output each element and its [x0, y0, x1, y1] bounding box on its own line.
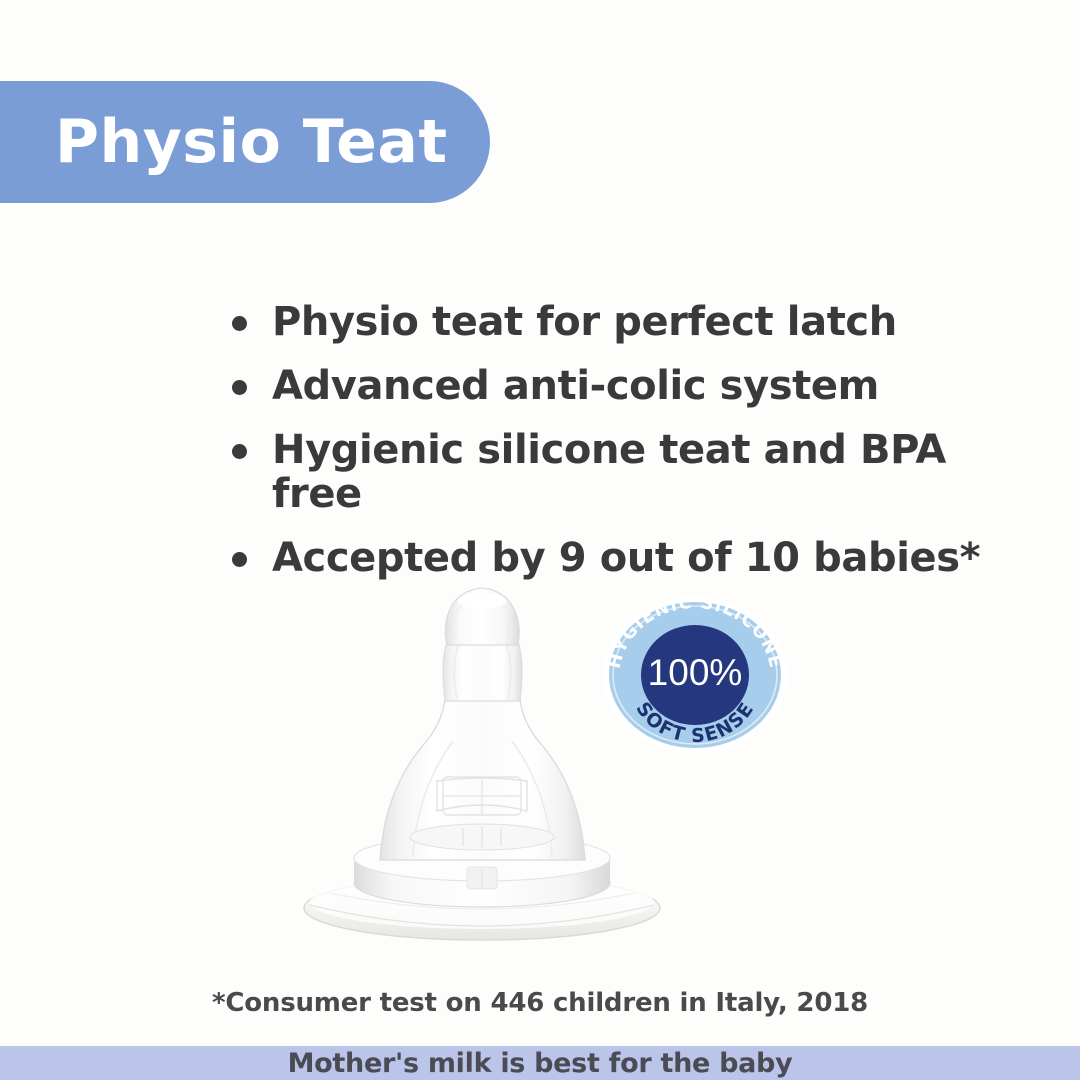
bullet-dot-icon [232, 552, 247, 567]
list-item: Physio teat for perfect latch [232, 300, 1032, 345]
footer-disclaimer-text: Mother's milk is best for the baby [288, 1048, 793, 1079]
page-title: Physio Teat [55, 107, 448, 177]
feature-label: Advanced anti-colic system [272, 364, 879, 409]
badge-center-text: 100% [648, 652, 743, 693]
footer-bar: Mother's milk is best for the baby [0, 1046, 1080, 1080]
bullet-dot-icon [232, 316, 247, 331]
feature-label: Physio teat for perfect latch [272, 300, 897, 345]
list-item: Advanced anti-colic system [232, 364, 1032, 409]
title-banner: Physio Teat [0, 81, 490, 203]
status-badge: HYGIENIC SILICONE SOFT SENSE 100% [602, 596, 788, 754]
bullet-dot-icon [232, 444, 247, 459]
list-item: Hygienic silicone teat and BPA free [232, 428, 1032, 518]
feature-list: Physio teat for perfect latch Advanced a… [232, 300, 1032, 600]
footnote-text: *Consumer test on 446 children in Italy,… [0, 988, 1080, 1018]
bullet-dot-icon [232, 380, 247, 395]
feature-label: Hygienic silicone teat and BPA free [272, 428, 1032, 518]
